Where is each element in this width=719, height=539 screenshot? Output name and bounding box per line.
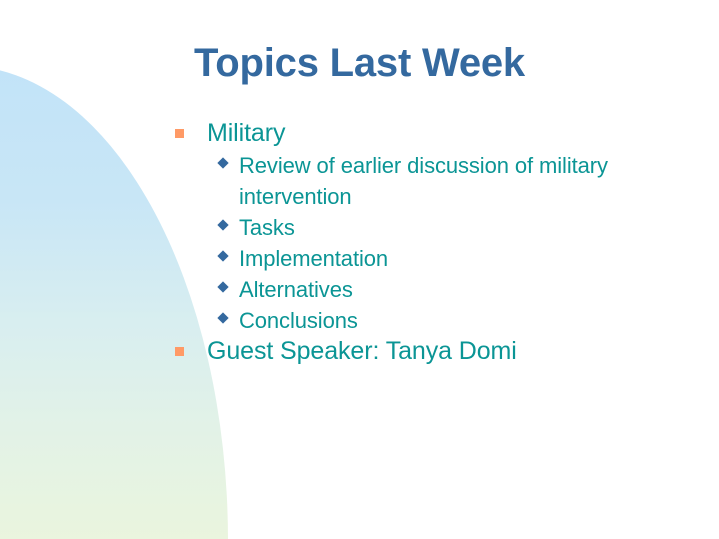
list-item[interactable]: Tasks <box>219 212 705 243</box>
list-item-label: Tasks <box>239 212 295 243</box>
diamond-bullet-icon <box>219 243 239 260</box>
list-item-label: Alternatives <box>239 274 353 305</box>
list-item-label: Conclusions <box>239 305 358 336</box>
list-item[interactable]: Conclusions <box>219 305 705 336</box>
bullet-list: Military Review of earlier discussion of… <box>175 118 705 368</box>
list-item[interactable]: Implementation <box>219 243 705 274</box>
diamond-bullet-icon <box>219 150 239 167</box>
diamond-bullet-icon <box>219 305 239 322</box>
presentation-slide: Topics Last Week Military Review of earl… <box>0 0 719 539</box>
list-item-label: Guest Speaker: Tanya Domi <box>207 336 517 367</box>
list-item[interactable]: Guest Speaker: Tanya Domi <box>175 336 705 367</box>
square-bullet-icon <box>175 118 207 138</box>
diamond-bullet-icon <box>219 274 239 291</box>
list-item-label: Implementation <box>239 243 388 274</box>
list-item[interactable]: Alternatives <box>219 274 705 305</box>
page-title: Topics Last Week <box>0 42 719 84</box>
diamond-bullet-icon <box>219 212 239 229</box>
list-item[interactable]: Review of earlier discussion of military… <box>219 150 705 212</box>
list-item[interactable]: Military <box>175 118 705 149</box>
square-bullet-icon <box>175 336 207 356</box>
list-item-label: Review of earlier discussion of military… <box>239 150 691 212</box>
list-item-label: Military <box>207 118 285 149</box>
